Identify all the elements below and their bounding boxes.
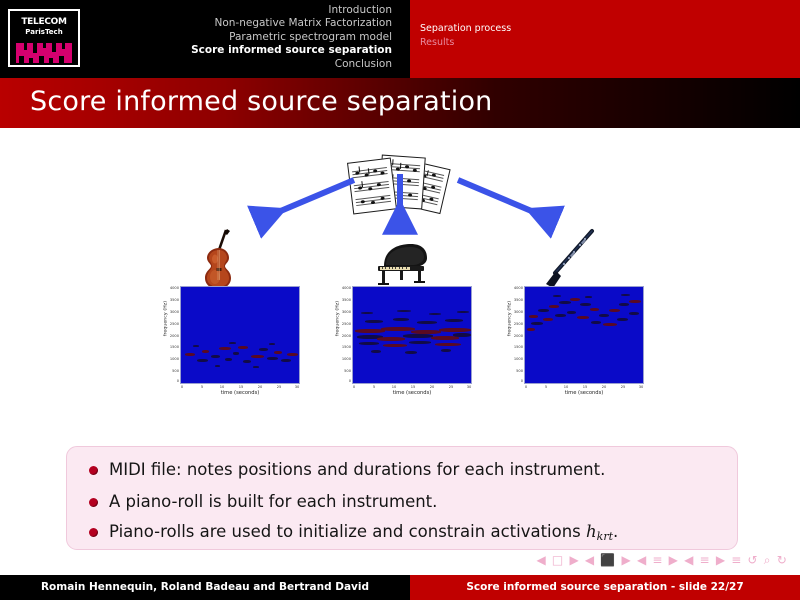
bullet-dot-icon xyxy=(89,498,98,507)
arrow-to-clarinet-icon xyxy=(452,176,562,226)
slide-footer: Romain Hennequin, Roland Badeau and Bert… xyxy=(0,575,800,600)
nav-section-conclusion[interactable]: Conclusion xyxy=(140,58,392,71)
section-navigation[interactable]: Introduction Non-negative Matrix Factori… xyxy=(140,4,392,71)
spectrogram-clarinet-xlabel: time (seconds) xyxy=(524,390,644,396)
footer-authors: Romain Hennequin, Roland Badeau and Bert… xyxy=(0,581,410,593)
arrow-to-piano-icon xyxy=(385,172,415,234)
logo-subtext: ParisTech xyxy=(10,28,78,36)
math-subscript-krt: krt xyxy=(597,530,613,543)
clarinet-icon xyxy=(540,228,602,290)
bullet-text-activations-prefix: Piano-rolls are used to initialize and c… xyxy=(109,522,586,541)
subsection-navigation[interactable]: Separation process Results xyxy=(420,22,640,50)
logo-pink-bar xyxy=(16,43,72,63)
spectrogram-piano-xlabel: time (seconds) xyxy=(352,390,472,396)
footer-slide-info: Score informed source separation - slide… xyxy=(410,581,800,593)
list-item: A piano-roll is built for each instrumen… xyxy=(89,489,729,519)
nav-section-introduction[interactable]: Introduction xyxy=(140,4,392,17)
nav-section-parametric-model[interactable]: Parametric spectrogram model xyxy=(140,31,392,44)
list-item: MIDI file: notes positions and durations… xyxy=(89,457,729,487)
bullet-dot-icon xyxy=(89,466,98,475)
slide-title-bar: Score informed source separation xyxy=(0,78,800,128)
nav-section-nmf[interactable]: Non-negative Matrix Factorization xyxy=(140,17,392,30)
bullet-list-box: MIDI file: notes positions and durations… xyxy=(66,446,738,550)
nav-section-score-informed[interactable]: Score informed source separation xyxy=(140,44,392,57)
bullet-text-midi: MIDI file: notes positions and durations… xyxy=(109,457,605,483)
nav-subsection-separation-process[interactable]: Separation process xyxy=(420,22,640,36)
logo-wordmark: TELECOM xyxy=(10,17,78,27)
spectrogram-bass-ylabel: frequency (Hz) xyxy=(164,287,169,351)
beamer-navigation-glyphs[interactable]: ◀ □ ▶ ◀ ⬛ ▶ ◀ ≡ ▶ ◀ ≡ ▶ ≡ ↺ ⌕ ↻ xyxy=(536,553,788,568)
bullet-dot-icon xyxy=(89,528,98,537)
footer-left-panel: Romain Hennequin, Roland Badeau and Bert… xyxy=(0,575,410,600)
page-title: Score informed source separation xyxy=(30,86,492,117)
math-variable-h: h xyxy=(586,522,597,541)
arrow-to-bass-icon xyxy=(250,176,360,226)
spectrogram-clarinet-plot xyxy=(524,286,644,384)
spectrogram-bass-xlabel: time (seconds) xyxy=(180,390,300,396)
spectrogram-bass: 40003500 30002500 20001500 1000500 0 05 … xyxy=(156,282,308,408)
grand-piano-icon xyxy=(370,240,432,288)
spectrogram-clarinet: 40003500 30002500 20001500 1000500 0 05 … xyxy=(500,282,652,408)
spectrogram-piano: 40003500 30002500 20001500 1000500 0 05 … xyxy=(328,282,480,408)
nav-subsection-results[interactable]: Results xyxy=(420,36,640,50)
spectrogram-piano-ylabel: frequency (Hz) xyxy=(336,287,341,351)
bullet-text-activations-suffix: . xyxy=(613,522,618,541)
double-bass-icon xyxy=(196,228,242,290)
spectrogram-clarinet-ylabel: frequency (Hz) xyxy=(508,287,513,351)
spectrogram-bass-plot xyxy=(180,286,300,384)
slide-header: TELECOM ParisTech Introduction Non-negat… xyxy=(0,0,800,78)
bullet-text-piano-roll: A piano-roll is built for each instrumen… xyxy=(109,489,437,515)
spectrogram-piano-plot xyxy=(352,286,472,384)
list-item: Piano-rolls are used to initialize and c… xyxy=(89,519,729,549)
bullet-text-activations: Piano-rolls are used to initialize and c… xyxy=(109,519,618,550)
slide-body: 40003500 30002500 20001500 1000500 0 05 … xyxy=(0,128,800,575)
footer-right-panel: Score informed source separation - slide… xyxy=(410,575,800,600)
telecom-paristech-logo: TELECOM ParisTech xyxy=(8,9,80,67)
